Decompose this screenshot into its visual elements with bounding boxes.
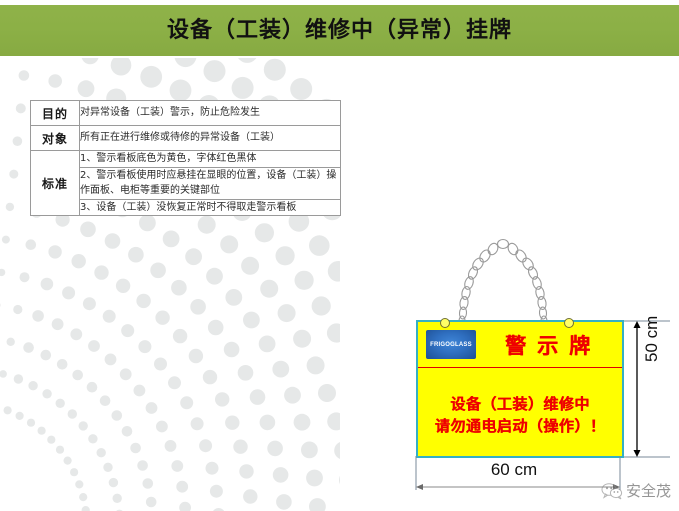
row-value-standard-2: 2、警示看板使用时应悬挂在显眼的位置，设备（工装）操作面板、电柜等重要的关键部位: [80, 167, 341, 199]
table-row: 目的 对异常设备（工装）警示，防止危险发生: [31, 101, 341, 126]
row-value-standard-3: 3、设备（工装）没恢复正常时不得取走警示看板: [80, 199, 341, 216]
sign-message-line-1: 设备（工装）维修中: [418, 394, 622, 416]
row-value-object: 所有正在进行维修或待修的异常设备（工装）: [80, 126, 341, 151]
row-label-standard: 标准: [31, 151, 80, 216]
row-value-standard-1: 1、警示看板底色为黄色，字体红色黑体: [80, 151, 341, 168]
dimension-width: 60 cm: [414, 456, 629, 502]
spec-table: 目的 对异常设备（工装）警示，防止危险发生 对象 所有正在进行维修或待修的异常设…: [30, 100, 341, 216]
frigoglass-logo: FRIGOGLASS: [426, 330, 476, 359]
dimension-width-label: 60 cm: [414, 460, 614, 480]
row-value-purpose: 对异常设备（工装）警示，防止危险发生: [80, 101, 341, 126]
warning-sign-board: FRIGOGLASS 警示牌 设备（工装）维修中 请勿通电启动（操作）！: [416, 320, 624, 458]
row-label-purpose: 目的: [31, 101, 80, 126]
header-banner: 设备（工装）维修中（异常）挂牌: [0, 5, 679, 56]
sign-header-row: FRIGOGLASS 警示牌: [418, 322, 622, 368]
grommet-right-icon: [564, 318, 574, 328]
brand-logo-label: FRIGOGLASS: [430, 342, 472, 348]
wechat-icon: [601, 482, 623, 500]
sign-message: 设备（工装）维修中 请勿通电启动（操作）！: [418, 368, 622, 438]
grommet-left-icon: [440, 318, 450, 328]
row-label-object: 对象: [31, 126, 80, 151]
warning-sign-figure: FRIGOGLASS 警示牌 设备（工装）维修中 请勿通电启动（操作）！ 50 …: [398, 238, 679, 511]
watermark-label: 安全茂: [626, 480, 671, 501]
page-title: 设备（工装）维修中（异常）挂牌: [167, 20, 512, 42]
sign-heading: 警示牌: [476, 330, 622, 360]
table-row: 对象 所有正在进行维修或待修的异常设备（工装）: [31, 126, 341, 151]
table-row: 标准 1、警示看板底色为黄色，字体红色黑体: [31, 151, 341, 168]
watermark: 安全茂: [601, 480, 671, 501]
dimension-height-label: 50 cm: [642, 316, 662, 362]
dimension-height: 50 cm: [624, 318, 672, 460]
hanging-chain-icon: [438, 238, 568, 328]
sign-message-line-2: 请勿通电启动（操作）！: [418, 416, 622, 438]
